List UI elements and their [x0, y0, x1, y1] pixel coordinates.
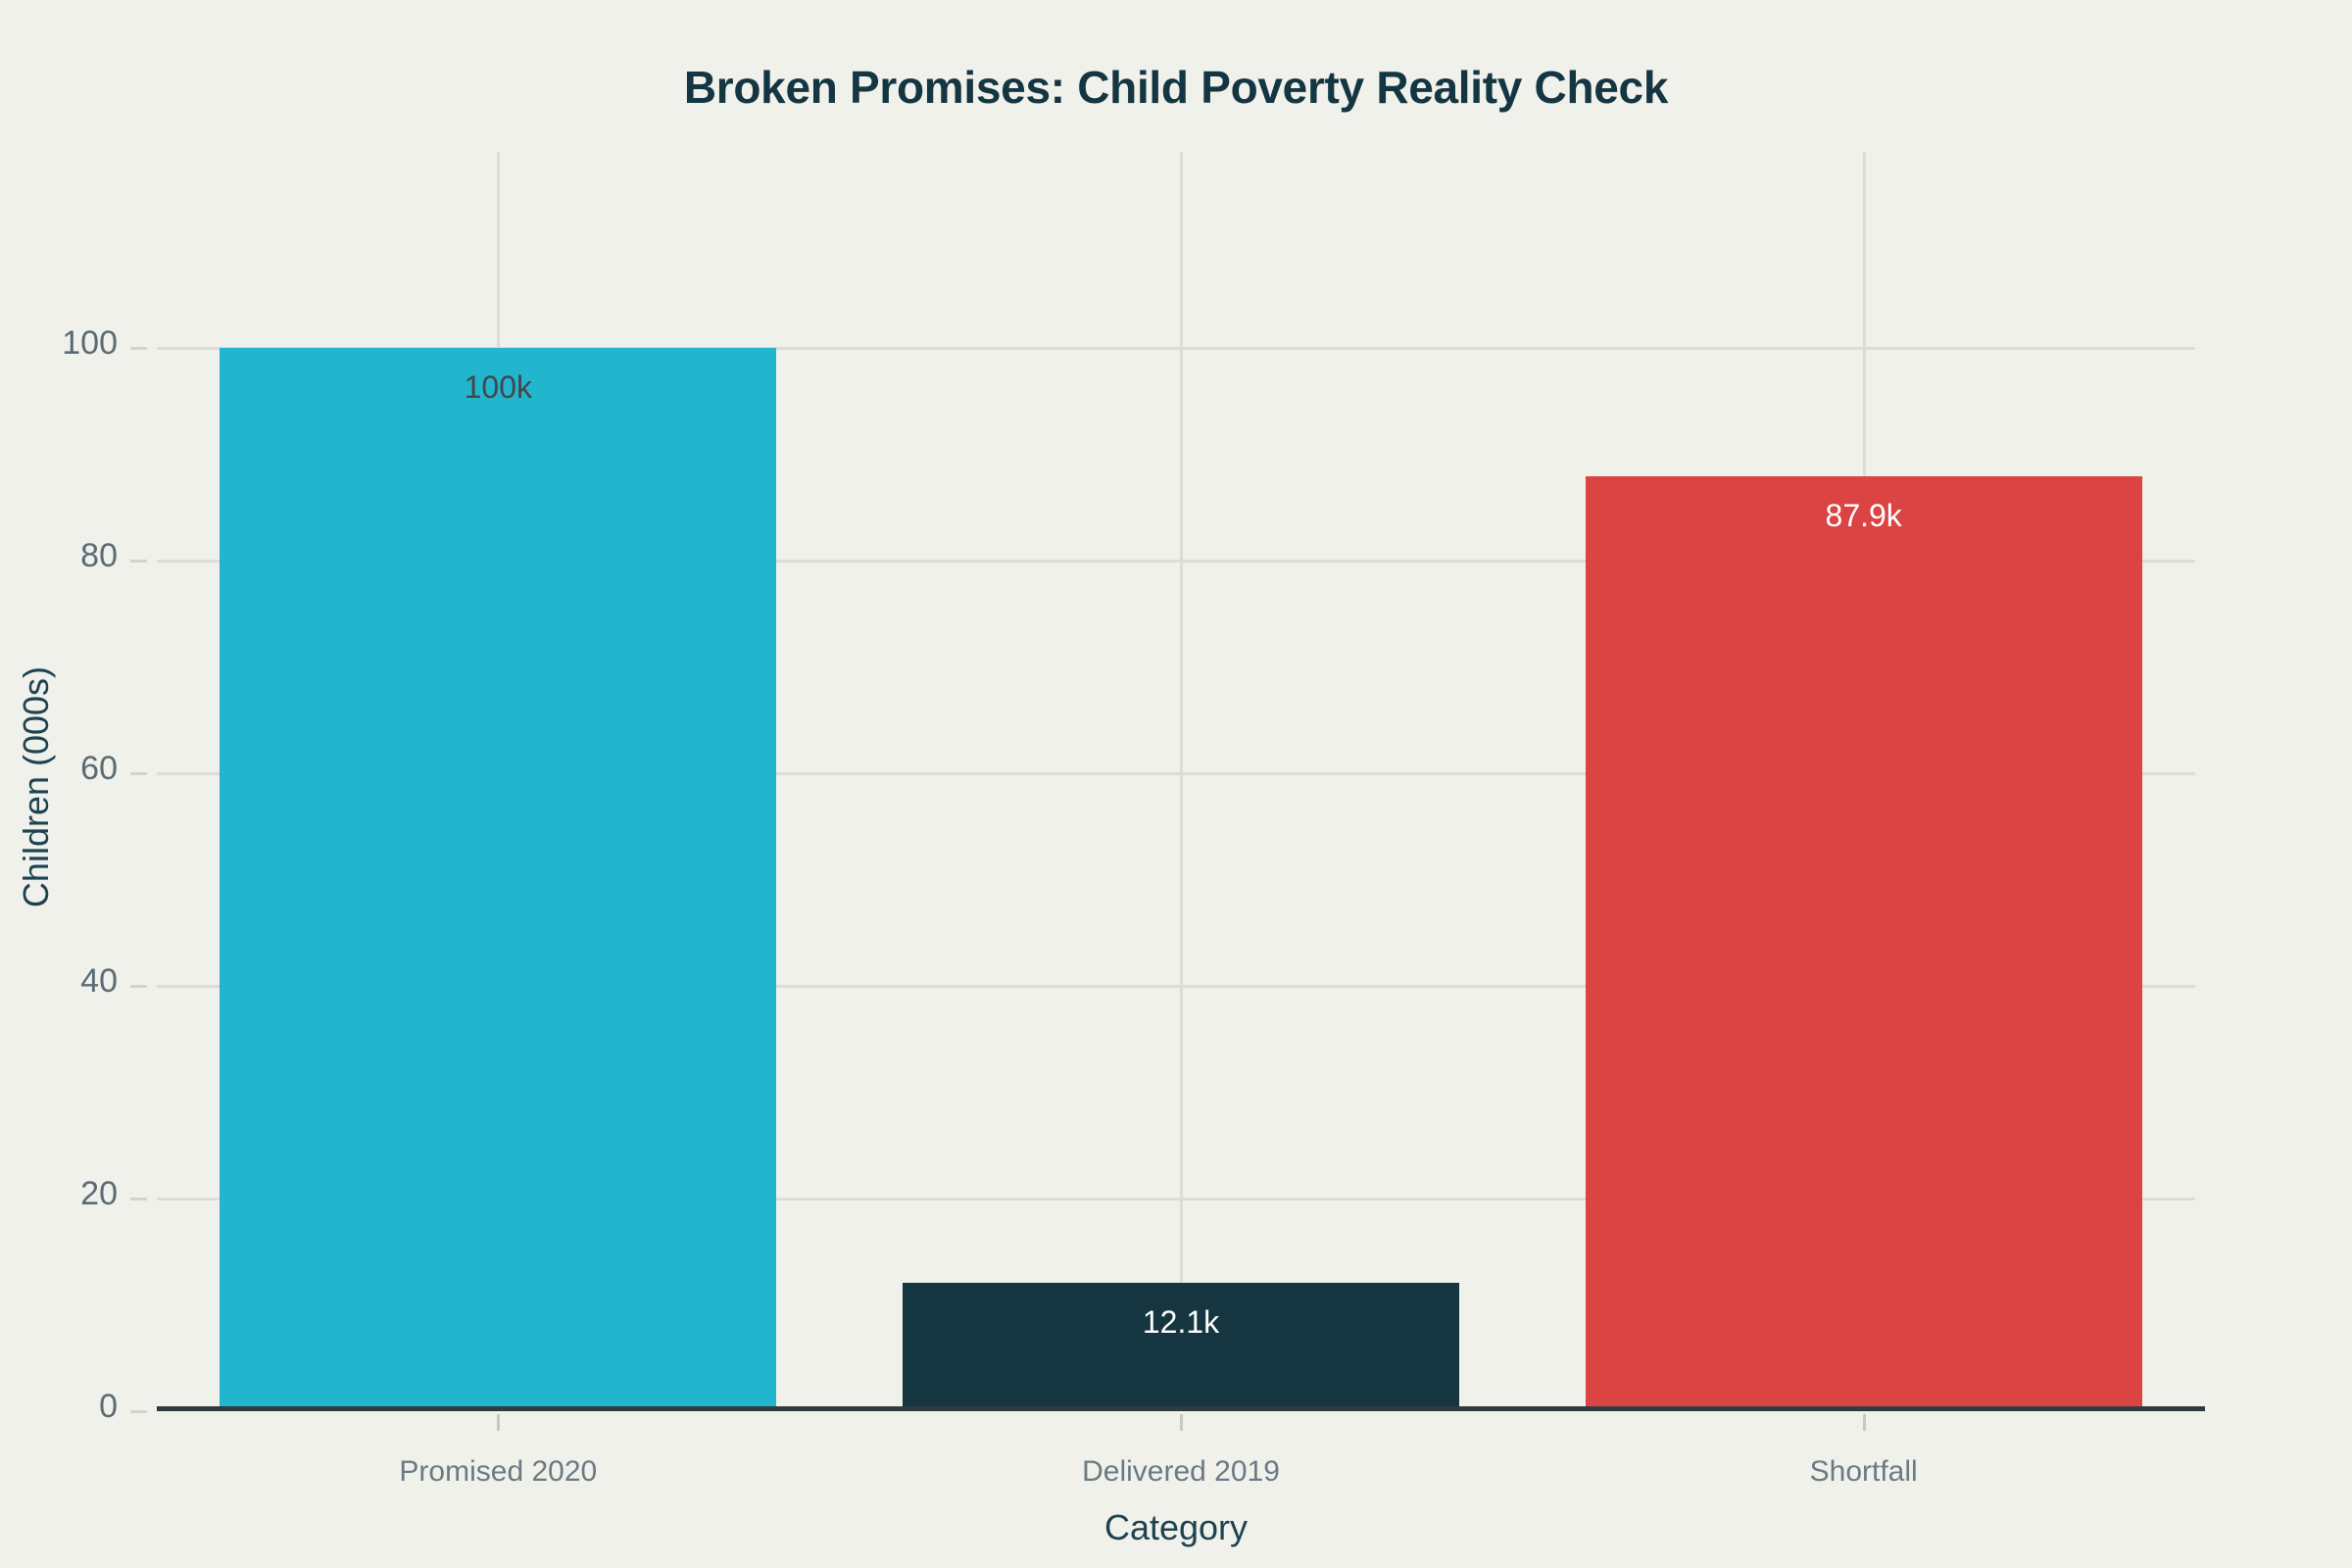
- y-tick-mark: [130, 347, 147, 350]
- y-axis-title: Children (000s): [16, 395, 57, 1179]
- gridline-vertical: [1180, 152, 1183, 1411]
- chart-title: Broken Promises: Child Poverty Reality C…: [0, 61, 2352, 114]
- y-tick-label: 0: [20, 1388, 118, 1426]
- bar-value-label: 87.9k: [1586, 498, 2142, 534]
- y-tick-mark: [130, 1410, 147, 1413]
- y-tick-mark: [130, 772, 147, 775]
- y-tick-label: 20: [20, 1175, 118, 1213]
- bar[interactable]: 12.1k: [903, 1283, 1459, 1411]
- y-tick-label: 100: [20, 324, 118, 363]
- x-axis-title: Category: [0, 1507, 2352, 1548]
- plot-area: 100k12.1k87.9k 020406080100 Promised 202…: [157, 196, 2205, 1411]
- bar[interactable]: 100k: [220, 348, 776, 1411]
- y-tick-mark: [130, 1198, 147, 1200]
- bar-value-label: 100k: [220, 369, 776, 406]
- bar[interactable]: 87.9k: [1586, 476, 2142, 1411]
- y-tick-mark: [130, 560, 147, 563]
- x-axis-line: [157, 1406, 2205, 1411]
- x-tick-label: Promised 2020: [204, 1455, 792, 1489]
- x-tick-mark: [497, 1414, 500, 1431]
- x-tick-mark: [1180, 1414, 1183, 1431]
- y-tick-mark: [130, 985, 147, 988]
- x-tick-mark: [1863, 1414, 1866, 1431]
- x-tick-label: Shortfall: [1570, 1455, 2158, 1489]
- bar-value-label: 12.1k: [903, 1304, 1459, 1341]
- x-tick-label: Delivered 2019: [887, 1455, 1475, 1489]
